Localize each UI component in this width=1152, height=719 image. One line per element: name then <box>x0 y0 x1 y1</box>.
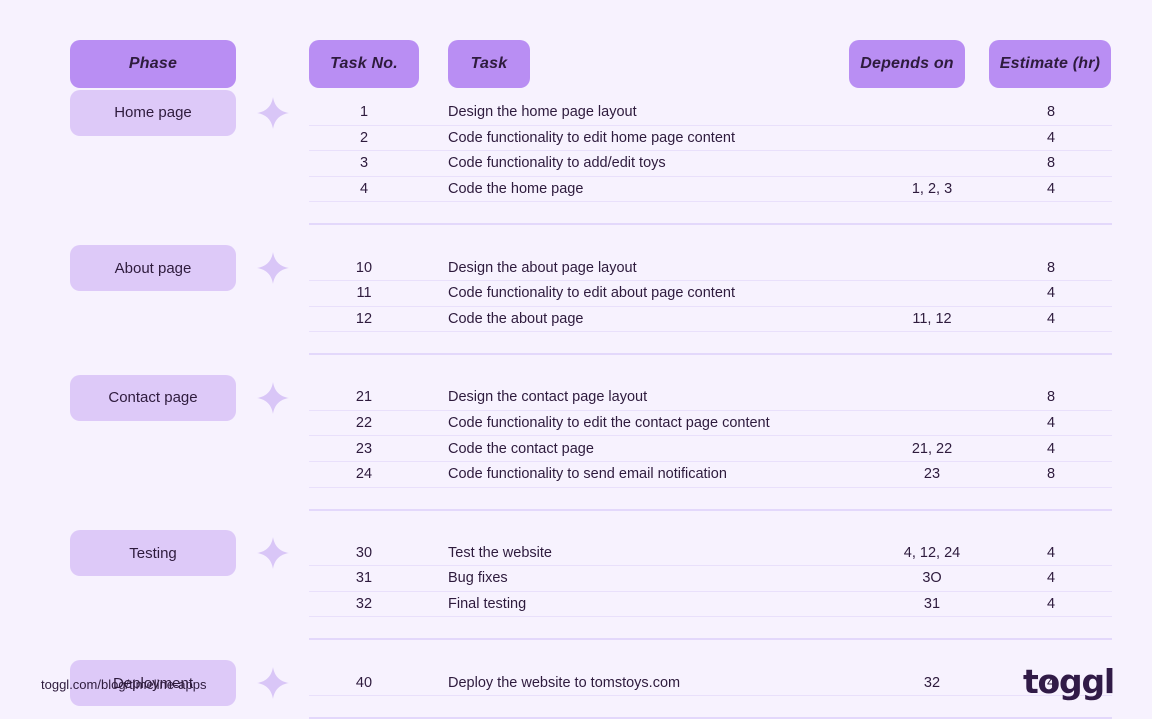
cell-task: Code the home page <box>419 181 874 197</box>
cell-task-no: 4 <box>309 181 419 197</box>
cell-task: Code functionality to edit home page con… <box>419 130 874 146</box>
column-header-task: Task <box>448 40 530 88</box>
cell-estimate: 4 <box>990 415 1112 431</box>
cell-estimate: 4 <box>990 285 1112 301</box>
phase-pill-home-page[interactable]: Home page <box>70 90 236 136</box>
table-row[interactable]: 3Code functionality to add/edit toys8 <box>309 151 1112 177</box>
cell-estimate: 8 <box>990 104 1112 120</box>
cell-task-no: 24 <box>309 466 419 482</box>
cell-task: Code the about page <box>419 311 874 327</box>
cell-depends-on: 4, 12, 24 <box>874 545 990 561</box>
column-header-depends-on: Depends on <box>849 40 965 88</box>
cell-depends-on: 31 <box>874 596 990 612</box>
cell-task: Code functionality to send email notific… <box>419 466 874 482</box>
column-header-estimate: Estimate (hr) <box>989 40 1111 88</box>
table-row[interactable]: 21Design the contact page layout8 <box>309 385 1112 411</box>
cell-task: Design the about page layout <box>419 260 874 276</box>
column-header-task-no: Task No. <box>309 40 419 88</box>
cell-task-no: 12 <box>309 311 419 327</box>
cell-depends-on: 21, 22 <box>874 441 990 457</box>
cell-task-no: 11 <box>309 285 419 301</box>
section-divider <box>309 509 1112 511</box>
section-divider <box>309 353 1112 355</box>
table-row[interactable]: 32Final testing314 <box>309 592 1112 618</box>
table-row[interactable]: 2Code functionality to edit home page co… <box>309 126 1112 152</box>
table-row[interactable]: 11Code functionality to edit about page … <box>309 281 1112 307</box>
task-section: 21Design the contact page layout822Code … <box>309 385 1112 510</box>
cell-estimate: 4 <box>990 130 1112 146</box>
phase-pill-testing[interactable]: Testing <box>70 530 236 576</box>
cell-task: Code functionality to edit about page co… <box>419 285 874 301</box>
cell-estimate: 4 <box>990 545 1112 561</box>
cell-depends-on: 11, 12 <box>874 311 990 327</box>
section-divider <box>309 223 1112 225</box>
cell-task: Test the website <box>419 545 874 561</box>
cell-task-no: 2 <box>309 130 419 146</box>
table-row[interactable]: 10Design the about page layout8 <box>309 255 1112 281</box>
timeline-table-board: Phase Task No. Task Depends on Estimate … <box>0 0 1152 713</box>
table-row[interactable]: 30Test the website4, 12, 244 <box>309 541 1112 567</box>
task-section: 30Test the website4, 12, 24431Bug fixes3… <box>309 541 1112 641</box>
cell-depends-on: 1, 2, 3 <box>874 181 990 197</box>
task-section: 1Design the home page layout82Code funct… <box>309 100 1112 225</box>
table-row[interactable]: 22Code functionality to edit the contact… <box>309 411 1112 437</box>
cell-task-no: 21 <box>309 389 419 405</box>
table-row[interactable]: 31Bug fixes3O4 <box>309 566 1112 592</box>
cell-task-no: 22 <box>309 415 419 431</box>
section-divider <box>309 638 1112 640</box>
cell-task-no: 10 <box>309 260 419 276</box>
cell-depends-on: 32 <box>874 675 990 691</box>
footer-url: toggl.com/blog/timeline-apps <box>41 677 206 692</box>
sparkle-icon <box>256 381 290 415</box>
task-table: 1Design the home page layout82Code funct… <box>309 100 1112 719</box>
cell-task-no: 3 <box>309 155 419 171</box>
cell-task: Design the home page layout <box>419 104 874 120</box>
table-row[interactable]: 4Code the home page1, 2, 34 <box>309 177 1112 203</box>
cell-estimate: 4 <box>990 596 1112 612</box>
table-header-row: Phase Task No. Task Depends on Estimate … <box>0 40 1152 88</box>
sparkle-icon <box>256 536 290 570</box>
phase-pill-about-page[interactable]: About page <box>70 245 236 291</box>
task-section: 40Deploy the website to tomstoys.com324 <box>309 670 1112 719</box>
column-header-phase: Phase <box>70 40 236 88</box>
sparkle-icon <box>256 96 290 130</box>
cell-task: Deploy the website to tomstoys.com <box>419 675 874 691</box>
cell-estimate: 8 <box>990 466 1112 482</box>
cell-task: Code the contact page <box>419 441 874 457</box>
cell-depends-on: 3O <box>874 570 990 586</box>
table-row[interactable]: 40Deploy the website to tomstoys.com324 <box>309 670 1112 696</box>
sparkle-icon <box>256 666 290 700</box>
cell-estimate: 8 <box>990 389 1112 405</box>
task-section: 10Design the about page layout811Code fu… <box>309 255 1112 355</box>
cell-task: Code functionality to edit the contact p… <box>419 415 874 431</box>
table-row[interactable]: 23Code the contact page21, 224 <box>309 436 1112 462</box>
table-row[interactable]: 12Code the about page11, 124 <box>309 307 1112 333</box>
cell-task-no: 23 <box>309 441 419 457</box>
cell-task-no: 31 <box>309 570 419 586</box>
cell-task: Design the contact page layout <box>419 389 874 405</box>
cell-estimate: 4 <box>990 311 1112 327</box>
cell-depends-on: 23 <box>874 466 990 482</box>
sparkle-icon <box>256 251 290 285</box>
cell-estimate: 4 <box>990 181 1112 197</box>
table-row[interactable]: 1Design the home page layout8 <box>309 100 1112 126</box>
phase-pill-contact-page[interactable]: Contact page <box>70 375 236 421</box>
cell-task-no: 1 <box>309 104 419 120</box>
cell-task: Final testing <box>419 596 874 612</box>
cell-estimate: 8 <box>990 260 1112 276</box>
cell-estimate: 4 <box>990 570 1112 586</box>
cell-task-no: 32 <box>309 596 419 612</box>
cell-estimate: 8 <box>990 155 1112 171</box>
toggl-logo: toggl <box>1023 662 1114 701</box>
cell-task-no: 40 <box>309 675 419 691</box>
cell-task: Bug fixes <box>419 570 874 586</box>
cell-task-no: 30 <box>309 545 419 561</box>
cell-estimate: 4 <box>990 441 1112 457</box>
table-row[interactable]: 24Code functionality to send email notif… <box>309 462 1112 488</box>
cell-task: Code functionality to add/edit toys <box>419 155 874 171</box>
